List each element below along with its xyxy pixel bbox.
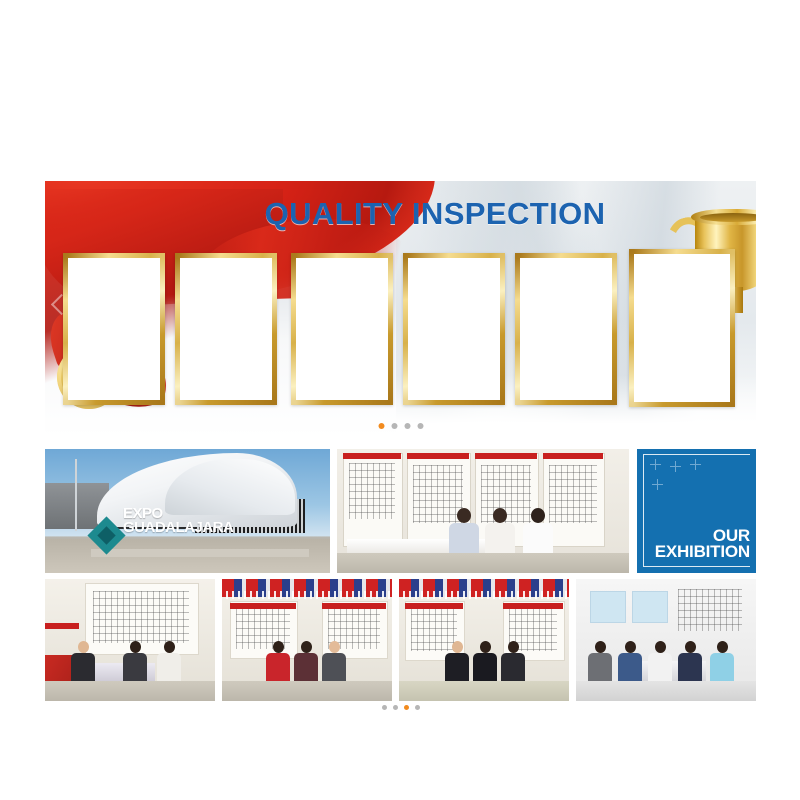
carousel-dot[interactable] bbox=[404, 423, 410, 429]
carousel-dot[interactable] bbox=[393, 705, 398, 710]
page-title: QUALITY INSPECTION bbox=[250, 196, 620, 232]
photo-booth-three-staff[interactable] bbox=[337, 449, 629, 573]
plus-marks-icon bbox=[650, 459, 706, 493]
carousel-dot[interactable] bbox=[378, 423, 384, 429]
expo-sign-text: EXPO GUADALAJARA bbox=[123, 507, 233, 535]
our-exhibition-panel: OUR EXHIBITION bbox=[637, 449, 756, 573]
our-exhibition-line2: EXHIBITION bbox=[655, 544, 750, 561]
our-exhibition-label: OUR EXHIBITION bbox=[655, 528, 750, 561]
exhibition-gallery: EXPO GUADALAJARA bbox=[45, 449, 756, 701]
carousel-dot[interactable] bbox=[391, 423, 397, 429]
certificate-gallery: CERTIFICATE EBO CERTIFICATE OF CONFORMIT… bbox=[63, 253, 743, 411]
photo-meeting-table[interactable] bbox=[45, 579, 215, 701]
banner-carousel-dots[interactable] bbox=[378, 423, 423, 429]
exhibition-carousel-dots[interactable] bbox=[382, 705, 420, 710]
photo-crowd-booth[interactable] bbox=[576, 579, 756, 701]
certificate-card[interactable]: SGS bbox=[403, 253, 505, 405]
flag-bunting bbox=[222, 579, 392, 597]
exhibition-row-top: EXPO GUADALAJARA bbox=[45, 449, 756, 573]
carousel-dot[interactable] bbox=[382, 705, 387, 710]
certificate-card[interactable]: CERTIFICATE EBO CERTIFICATE OF CONFORMIT… bbox=[63, 253, 165, 405]
quality-inspection-banner: QUALITY INSPECTION CERTIFICATE bbox=[45, 181, 756, 437]
photo-booth-trio-dark[interactable] bbox=[399, 579, 569, 701]
certificate-card[interactable]: ENVIRONMENTAL MANAGEMENT SYSTEM CERTIFIC… bbox=[629, 249, 735, 407]
photo-booth-trio-red[interactable] bbox=[222, 579, 392, 701]
flag-bunting bbox=[399, 579, 569, 597]
carousel-dot[interactable] bbox=[415, 705, 420, 710]
carousel-dot[interactable] bbox=[417, 423, 423, 429]
exhibition-row-bottom bbox=[45, 579, 756, 701]
photo-expo-guadalajara[interactable]: EXPO GUADALAJARA bbox=[45, 449, 330, 573]
page-root: QUALITY INSPECTION CERTIFICATE bbox=[0, 0, 800, 800]
expo-sign-line2: GUADALAJARA bbox=[123, 521, 233, 535]
certificate-card[interactable]: CERTIFICATE EBO CERTIFICATE OF CONFORMIT… bbox=[175, 253, 277, 405]
carousel-dot[interactable] bbox=[404, 705, 409, 710]
certificate-card[interactable]: Certificate of Compliance Certificate Nu… bbox=[515, 253, 617, 405]
certificate-card[interactable]: Certificate of Compliance Certificate Nu… bbox=[291, 253, 393, 405]
